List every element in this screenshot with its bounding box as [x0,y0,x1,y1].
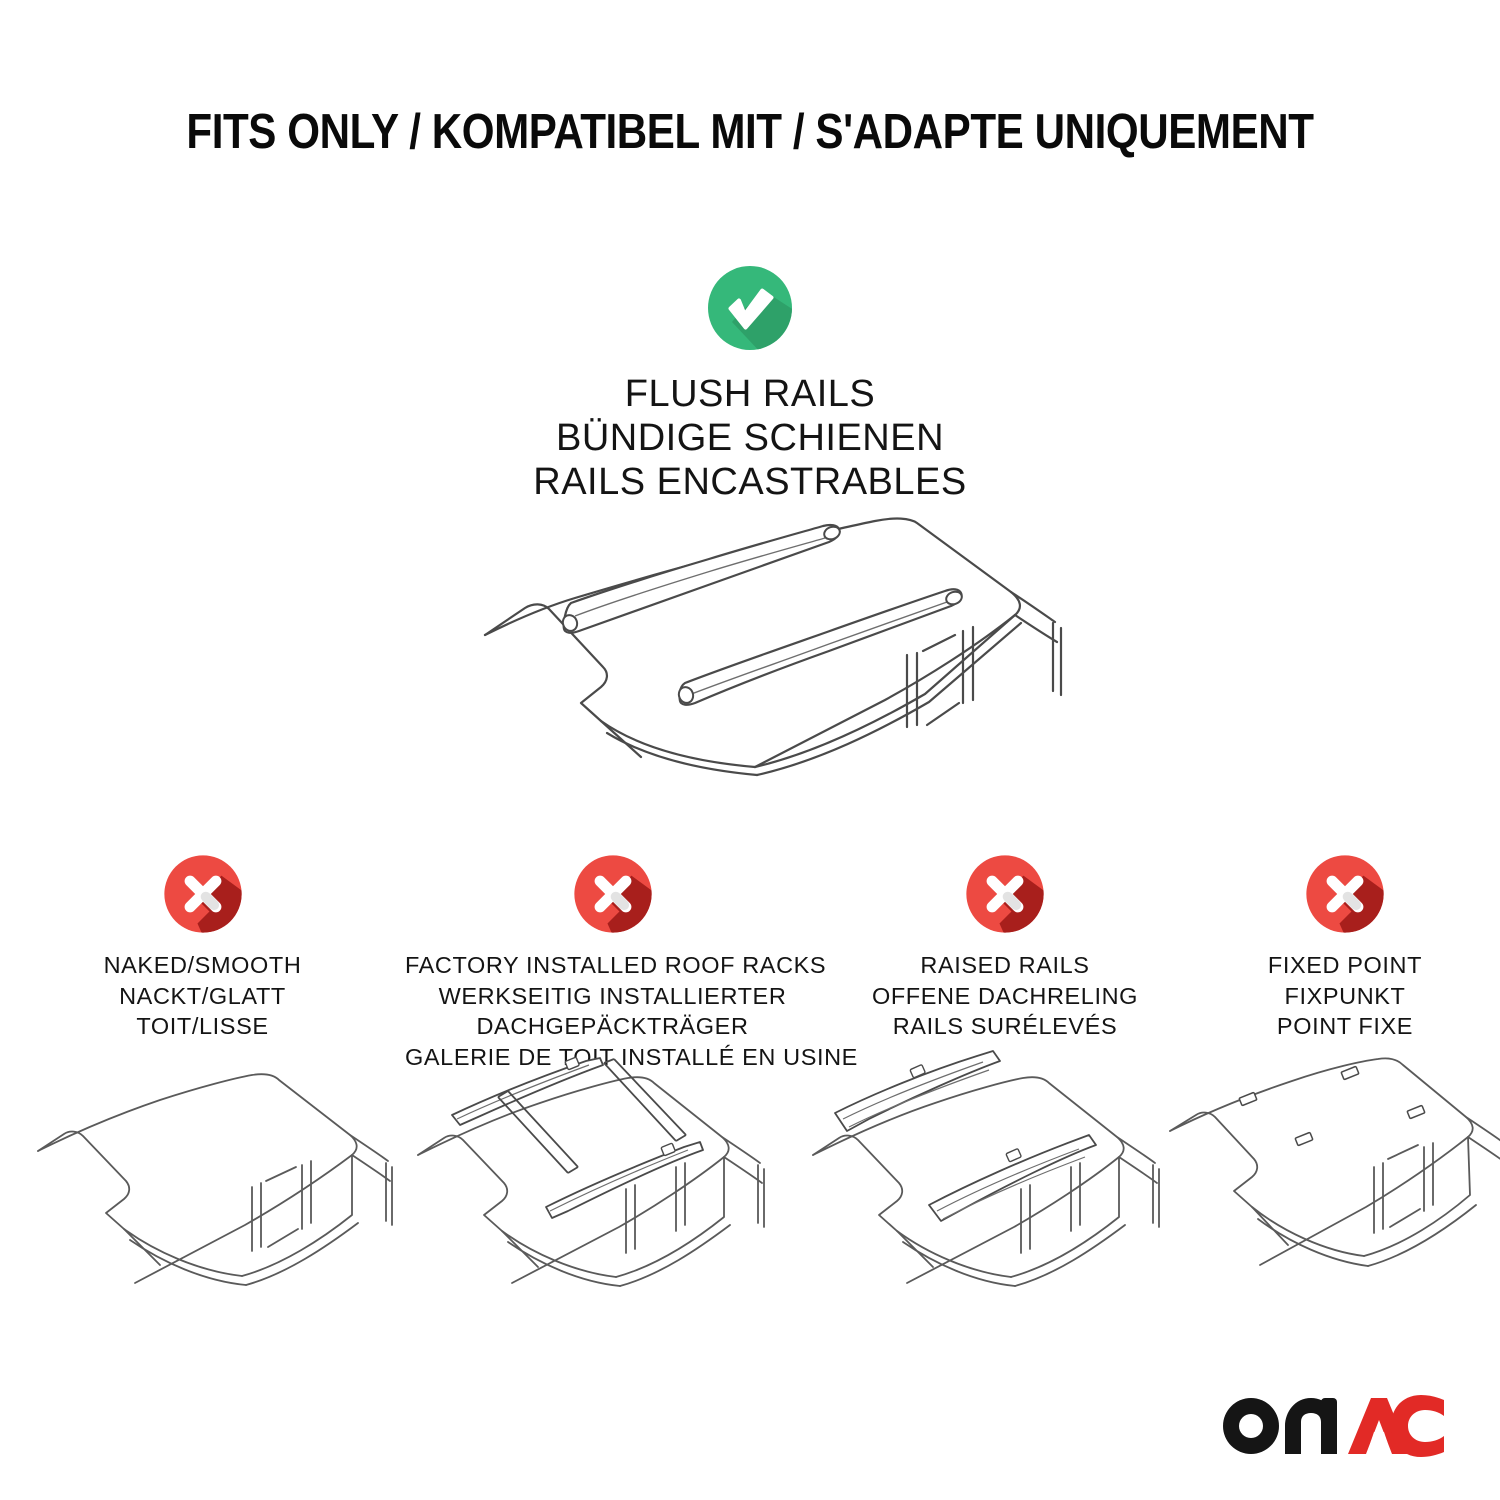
incompatible-label-de: OFFENE DACHRELING [820,981,1190,1012]
incompatible-labels: RAISED RAILS OFFENE DACHRELING RAILS SUR… [820,950,1190,1042]
compatible-label-en: FLUSH RAILS [0,372,1500,416]
x-circle-icon [1299,848,1391,940]
car-roof-raised-rails-illustration [795,1055,1185,1295]
incompatible-item-raised-rails: RAISED RAILS OFFENE DACHRELING RAILS SUR… [820,848,1190,1042]
logo-letter-m [1285,1398,1337,1454]
incompatible-label-de-2: DACHGEPÄCKTRÄGER [405,1011,820,1042]
check-circle-icon [700,258,800,358]
incompatible-item-fixed-point: FIXED POINT FIXPUNKT POINT FIXE [1190,848,1500,1042]
logo-letter-o [1223,1398,1279,1454]
incompatible-labels: NAKED/SMOOTH NACKT/GLATT TOIT/LISSE [0,950,405,1042]
car-roof-with-flush-rails-illustration [455,495,1075,795]
compatible-section: FLUSH RAILS BÜNDIGE SCHIENEN RAILS ENCAS… [0,258,1500,504]
x-circle-icon [567,848,659,940]
x-circle-icon [959,848,1051,940]
compatible-labels: FLUSH RAILS BÜNDIGE SCHIENEN RAILS ENCAS… [0,372,1500,504]
roof-illustrations-row [0,1055,1500,1305]
fitment-compatibility-infographic: FITS ONLY / KOMPATIBEL MIT / S'ADAPTE UN… [0,0,1500,1500]
incompatible-labels: FACTORY INSTALLED ROOF RACKS WERKSEITIG … [405,950,820,1072]
logo-letter-c [1391,1395,1445,1457]
x-circle-icon [157,848,249,940]
incompatible-label-en: FACTORY INSTALLED ROOF RACKS [405,950,820,981]
incompatible-label-fr: RAILS SURÉLEVÉS [820,1011,1190,1042]
car-roof-fixed-point-illustration [1160,1055,1500,1295]
incompatible-label-en: NAKED/SMOOTH [0,950,405,981]
incompatible-label-en: FIXED POINT [1190,950,1500,981]
compatible-label-de: BÜNDIGE SCHIENEN [0,416,1500,460]
page-title: FITS ONLY / KOMPATIBEL MIT / S'ADAPTE UN… [105,104,1395,160]
incompatible-label-en: RAISED RAILS [820,950,1190,981]
incompatible-label-fr: POINT FIXE [1190,1011,1500,1042]
incompatible-label-de: NACKT/GLATT [0,981,405,1012]
incompatible-label-de: FIXPUNKT [1190,981,1500,1012]
incompatible-section: NAKED/SMOOTH NACKT/GLATT TOIT/LISSE [0,848,1500,1072]
omac-logo [1215,1386,1445,1458]
incompatible-item-factory-roof-racks: FACTORY INSTALLED ROOF RACKS WERKSEITIG … [405,848,820,1072]
incompatible-item-naked-smooth: NAKED/SMOOTH NACKT/GLATT TOIT/LISSE [0,848,405,1042]
car-roof-naked-smooth-illustration [30,1055,400,1295]
incompatible-labels: FIXED POINT FIXPUNKT POINT FIXE [1190,950,1500,1042]
incompatible-label-fr: TOIT/LISSE [0,1011,405,1042]
incompatible-label-de-1: WERKSEITIG INSTALLIERTER [405,981,820,1012]
car-roof-factory-installed-roof-racks-illustration [400,1055,790,1295]
